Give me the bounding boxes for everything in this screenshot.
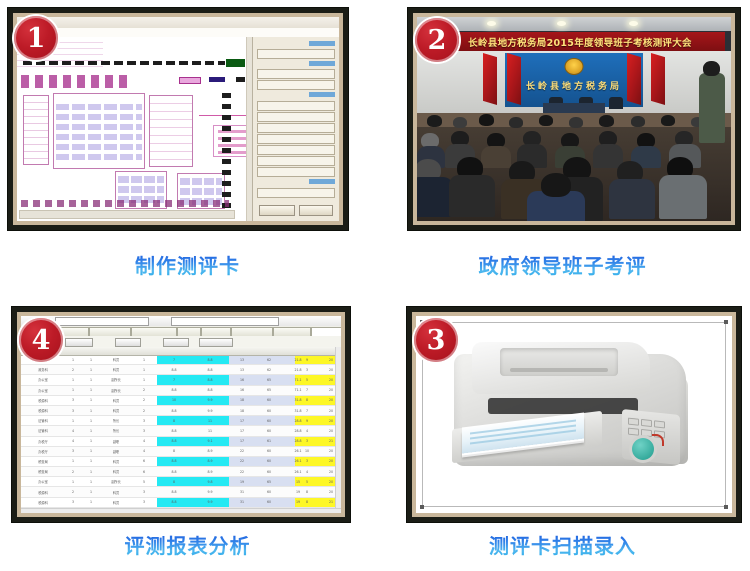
table-cell: 2 <box>133 396 155 405</box>
refresh-button[interactable] <box>115 338 141 347</box>
panel-3-caption: 测评卡扫描录入 <box>375 530 750 559</box>
table-cell: 60 <box>257 487 281 496</box>
table-cell: 9.9 <box>193 406 227 415</box>
table-cell: 6 <box>133 467 155 476</box>
selection-handle-tr[interactable] <box>724 320 728 324</box>
table-cell: 8.9 <box>193 467 227 476</box>
ceiling <box>417 17 731 31</box>
table-cell: 60 <box>257 447 281 456</box>
table-cell: 11 <box>193 416 227 425</box>
table-cell: 2 <box>133 406 155 415</box>
panel-4: 税务所11科员178.8136221.892025政务科21科员18.88.81… <box>0 290 375 571</box>
grid-hscrollbar[interactable] <box>21 508 341 513</box>
table-cell: 8.8 <box>157 386 191 395</box>
table-cell: 8 <box>157 477 191 486</box>
table-cell: 税源科 <box>23 406 63 415</box>
scanner-key-5[interactable] <box>641 429 652 437</box>
scanner-key-3[interactable] <box>654 420 665 428</box>
table-cell: 4 <box>295 467 319 476</box>
table-cell: 所长 <box>101 426 131 435</box>
step-badge-4: 4 <box>19 318 63 362</box>
table-cell: 11 <box>193 426 227 435</box>
table-cell: 科员 <box>101 365 131 374</box>
conference-banner: 长岭县地方税务局2015年度领导班子考核测评大会 <box>435 32 725 51</box>
legend-chip-b <box>209 77 225 82</box>
sidebar-field-11[interactable] <box>257 188 335 198</box>
table-cell: 8 <box>295 396 319 405</box>
table-cell: 8.8 <box>157 487 191 496</box>
table-cell: 18 <box>229 406 255 415</box>
sidebar-field-5[interactable] <box>257 112 335 122</box>
scanner-key-4[interactable] <box>628 428 639 436</box>
form-designer-screenshot <box>17 17 339 221</box>
table-cell: 60 <box>257 457 281 466</box>
sidebar-field-8[interactable] <box>257 145 335 155</box>
table-row[interactable]: 税源科31科员38.89.931601982146 <box>21 498 341 508</box>
table-cell: 1 <box>83 365 99 374</box>
table-cell: 13 <box>229 355 255 364</box>
table-cell: 60 <box>257 416 281 425</box>
table-cell: 1 <box>83 355 99 364</box>
table-cell: 60 <box>257 426 281 435</box>
table-cell: 65 <box>257 375 281 384</box>
table-cell: 稽查局 <box>23 467 63 476</box>
ceiling-light-2 <box>557 21 566 26</box>
sidebar-section-1 <box>309 41 335 46</box>
table-cell: 1 <box>83 487 99 496</box>
table-cell: 3 <box>65 447 81 456</box>
tab-statistics[interactable] <box>201 327 231 336</box>
table-cell: 16 <box>229 375 255 384</box>
table-cell: 9.9 <box>193 498 227 507</box>
table-cell: 8.8 <box>193 375 227 384</box>
table-cell: 办公室 <box>23 477 63 486</box>
table-row[interactable]: 税务所11科员178.8136221.892025 <box>21 355 341 365</box>
table-cell: 5 <box>295 477 319 486</box>
table-cell: 9 <box>295 416 319 425</box>
panel-2-image: 长岭县地方税务局2015年度领导班子考核测评大会 长岭县地方税务局 <box>417 17 731 221</box>
scanner-tray-slot <box>510 368 608 372</box>
table-cell: 科员 <box>101 467 131 476</box>
table-cell: 10 <box>157 396 191 405</box>
table-cell: 1 <box>65 477 81 486</box>
table-cell: 18 <box>229 396 255 405</box>
table-cell: 60 <box>257 498 281 507</box>
spreadsheet-screenshot: 税务所11科员178.8136221.892025政务科21科员18.88.81… <box>21 316 341 513</box>
table-cell: 19 <box>229 477 255 486</box>
scanner-control-panel[interactable] <box>622 409 680 465</box>
form-title-text <box>21 75 133 88</box>
scanner-key-2[interactable] <box>641 419 652 427</box>
spreadsheet-grid[interactable]: 税务所11科员178.8136221.892025政务科21科员18.88.81… <box>21 355 341 509</box>
panel-1-image <box>17 17 339 221</box>
table-cell: 60 <box>257 396 281 405</box>
table-cell: 1 <box>133 375 155 384</box>
table-cell: 3 <box>295 437 319 446</box>
table-cell: 1 <box>133 365 155 374</box>
table-cell: 2 <box>133 386 155 395</box>
table-cell: 办公室 <box>23 375 63 384</box>
table-cell: 9.1 <box>193 437 227 446</box>
table-cell: 16 <box>229 386 255 395</box>
table-row[interactable]: 征管科41所长38.811176028.842030 <box>21 426 341 436</box>
stage-org-name: 长岭县地方税务局 <box>526 79 622 92</box>
table-cell: 8.8 <box>157 498 191 507</box>
table-cell: 8.8 <box>157 426 191 435</box>
unit-select[interactable] <box>171 317 279 326</box>
panel-4-image: 税务所11科员178.8136221.892025政务科21科员18.88.81… <box>21 316 341 513</box>
table-cell: 4 <box>65 437 81 446</box>
table-row[interactable]: 征管科11所长3811176028.892029 <box>21 416 341 426</box>
table-cell: 3 <box>65 406 81 415</box>
form-table-left <box>23 95 49 165</box>
table-cell: 3 <box>295 457 319 466</box>
table-cell: 科员 <box>101 498 131 507</box>
table-cell: 办公室 <box>23 386 63 395</box>
panel-1-caption: 制作测评卡 <box>0 250 375 279</box>
table-cell: 税源科 <box>23 487 63 496</box>
panel-3: 3 测评卡扫描录入 <box>375 290 750 571</box>
sidebar-field-2[interactable] <box>257 69 335 79</box>
table-cell: 22 <box>229 457 255 466</box>
table-cell: 科员 <box>101 457 131 466</box>
panel-3-image <box>416 316 732 513</box>
table-cell: 1 <box>83 477 99 486</box>
table-cell: 2 <box>65 365 81 374</box>
table-cell: 1 <box>83 386 99 395</box>
corner-block <box>226 59 245 67</box>
scanner-paper-path <box>488 398 638 414</box>
conference-photo: 长岭县地方税务局2015年度领导班子考核测评大会 长岭县地方税务局 <box>417 17 731 221</box>
table-cell: 31 <box>229 487 255 496</box>
stage-chair-3 <box>609 97 623 109</box>
table-cell: 1 <box>83 467 99 476</box>
table-cell: 8.8 <box>193 386 227 395</box>
table-cell: 征管科 <box>23 416 63 425</box>
table-cell: 60 <box>257 406 281 415</box>
table-cell: 3 <box>133 426 155 435</box>
table-cell: 60 <box>257 467 281 476</box>
timing-marks-top <box>23 61 225 65</box>
sidebar-field-7[interactable] <box>257 134 335 144</box>
table-cell: 3 <box>133 487 155 496</box>
table-row[interactable]: 办税厅41副职48.89.1176128.832119 <box>21 437 341 447</box>
properties-sidebar <box>252 37 339 221</box>
table-cell: 7 <box>295 406 319 415</box>
table-cell: 61 <box>257 437 281 446</box>
table-cell: 7 <box>295 386 319 395</box>
step-badge-1: 1 <box>14 16 58 60</box>
table-cell: 4 <box>133 437 155 446</box>
print-button[interactable] <box>199 338 233 347</box>
sidebar-section-4 <box>309 179 335 184</box>
report-select[interactable] <box>55 317 149 326</box>
step-badge-2: 2 <box>415 18 459 62</box>
sidebar-field-9[interactable] <box>257 156 335 166</box>
audience-area <box>417 113 731 221</box>
table-cell: 8 <box>157 416 191 425</box>
table-cell: 8.8 <box>157 467 191 476</box>
table-cell: 1 <box>133 355 155 364</box>
table-cell: 5 <box>295 375 319 384</box>
scanner-key-1[interactable] <box>628 418 639 426</box>
table-cell: 9.9 <box>193 487 227 496</box>
step-badge-3: 3 <box>414 318 458 362</box>
selection-handle-bl[interactable] <box>420 505 424 509</box>
flag-left-2 <box>507 53 521 105</box>
table-cell: 6 <box>133 457 155 466</box>
sidebar-field-1[interactable] <box>257 49 335 59</box>
tab-score-table[interactable] <box>311 327 341 336</box>
table-cell: 1 <box>65 355 81 364</box>
table-cell: 8.8 <box>157 437 191 446</box>
table-cell: 4 <box>133 447 155 456</box>
table-cell: 10 <box>295 447 319 456</box>
table-row[interactable]: 办公室11副所长178.8166571.152021 <box>21 375 341 385</box>
table-cell: 1 <box>65 386 81 395</box>
table-row[interactable]: 办公室11副所长28.88.8166571.172076 <box>21 386 341 396</box>
table-cell: 1 <box>83 375 99 384</box>
table-cell: 62 <box>257 365 281 374</box>
sidebar-field-3[interactable] <box>257 80 335 90</box>
table-cell: 科员 <box>101 355 131 364</box>
table-cell: 9.8 <box>193 477 227 486</box>
table-cell: 62 <box>257 355 281 364</box>
table-cell: 8.8 <box>157 457 191 466</box>
table-cell: 8.8 <box>157 406 191 415</box>
table-cell: 3 <box>65 498 81 507</box>
canvas-hscrollbar[interactable] <box>19 210 235 219</box>
table-cell: 稽查局 <box>23 457 63 466</box>
table-cell: 2 <box>65 467 81 476</box>
panel-2: 长岭县地方税务局2015年度领导班子考核测评大会 长岭县地方税务局 <box>375 0 750 290</box>
grid-vscrollbar[interactable] <box>335 347 341 509</box>
table-cell: 1 <box>83 426 99 435</box>
table-cell: 3 <box>133 498 155 507</box>
table-cell: 13 <box>229 365 255 374</box>
table-cell: 17 <box>229 437 255 446</box>
sidebar-section-2 <box>309 61 335 66</box>
timing-marks-right <box>222 93 231 209</box>
table-cell: 8 <box>157 447 191 456</box>
legend-chip-a <box>179 77 201 84</box>
table-cell: 8.8 <box>193 355 227 364</box>
table-cell: 税源科 <box>23 396 63 405</box>
table-cell: 17 <box>229 426 255 435</box>
panel-1: 1 制作测评卡 <box>0 0 375 290</box>
table-cell: 1 <box>65 457 81 466</box>
table-cell: 22 <box>229 447 255 456</box>
table-cell: 8.8 <box>193 365 227 374</box>
table-cell: 31 <box>229 498 255 507</box>
sidebar-field-6[interactable] <box>257 123 335 133</box>
table-cell: 1 <box>83 406 99 415</box>
table-cell: 8.8 <box>157 365 191 374</box>
table-row[interactable]: 稽查局21科员68.88.9226026.142029 <box>21 467 341 477</box>
table-cell: 9.9 <box>193 396 227 405</box>
table-cell: 65 <box>257 477 281 486</box>
table-cell: 办税厅 <box>23 447 63 456</box>
table-cell: 8 <box>295 498 319 507</box>
flag-left-1 <box>483 53 497 105</box>
tab-item-summary[interactable] <box>131 327 177 336</box>
panel-1-frame <box>8 8 348 230</box>
table-cell: 科员 <box>101 406 131 415</box>
legend-chip-c <box>236 77 245 82</box>
table-row[interactable]: 税源科31科员2109.9186031.882039 <box>21 396 341 406</box>
table-cell: 17 <box>229 416 255 425</box>
table-cell: 1 <box>83 437 99 446</box>
table-row[interactable]: 税源科21科员38.89.931601982046 <box>21 487 341 497</box>
table-cell: 1 <box>83 457 99 466</box>
table-cell: 科员 <box>101 396 131 405</box>
tab-category-detail[interactable] <box>231 327 273 336</box>
table-cell: 8.9 <box>193 457 227 466</box>
table-cell: 征管科 <box>23 426 63 435</box>
table-cell: 1 <box>83 396 99 405</box>
table-cell: 副职 <box>101 437 131 446</box>
table-cell: 副职 <box>101 447 131 456</box>
table-row[interactable]: 办税厅31副职488.9226026.1102019 <box>21 447 341 457</box>
table-cell: 9 <box>295 355 319 364</box>
save-template-button[interactable] <box>259 205 295 216</box>
table-row[interactable]: 税源科31科员28.89.9186031.872039 <box>21 406 341 416</box>
table-cell: 2 <box>65 487 81 496</box>
scanner-start-dial[interactable] <box>632 438 654 460</box>
query-button[interactable] <box>65 338 93 347</box>
table-cell: 8 <box>295 487 319 496</box>
sidebar-field-4[interactable] <box>257 101 335 111</box>
sidebar-section-3 <box>309 92 335 97</box>
design-canvas[interactable] <box>17 37 253 221</box>
table-cell: 22 <box>229 467 255 476</box>
selection-handle-br[interactable] <box>724 505 728 509</box>
table-row[interactable]: 稽查局11科员68.88.9226026.132048 <box>21 457 341 467</box>
table-cell: 3 <box>295 365 319 374</box>
table-cell: 副所长 <box>101 386 131 395</box>
export-button[interactable] <box>163 338 189 347</box>
tab-opinion-summary[interactable] <box>273 327 311 336</box>
table-cell: 政务科 <box>23 365 63 374</box>
table-cell: 4 <box>295 426 319 435</box>
table-row[interactable]: 办公室11副所长589.819651552025 <box>21 477 341 487</box>
flag-right-1 <box>651 53 665 105</box>
table-cell: 5 <box>133 477 155 486</box>
table-cell: 7 <box>157 375 191 384</box>
panels-grid: 1 制作测评卡 长岭县地方税务局2015年度领导班子考核测评大会 长岭县地方税务… <box>0 0 750 571</box>
table-cell: 3 <box>65 396 81 405</box>
ceiling-light-1 <box>487 21 496 26</box>
table-cell: 所长 <box>101 416 131 425</box>
panel-2-caption: 政府领导班子考评 <box>375 250 750 279</box>
table-cell: 1 <box>83 416 99 425</box>
table-cell: 1 <box>65 416 81 425</box>
tab-result-summary[interactable] <box>89 327 131 336</box>
cancel-button[interactable] <box>299 205 333 216</box>
table-cell: 副所长 <box>101 375 131 384</box>
tab-ranking[interactable] <box>177 327 201 336</box>
scanner-photo <box>416 316 732 513</box>
table-cell: 1 <box>83 498 99 507</box>
table-cell: 3 <box>133 416 155 425</box>
table-cell: 办税厅 <box>23 437 63 446</box>
table-cell: 8.9 <box>193 447 227 456</box>
table-cell: 科员 <box>101 487 131 496</box>
form-footer-text <box>21 200 229 207</box>
national-emblem-icon <box>566 59 583 74</box>
table-cell: 税源科 <box>23 498 63 507</box>
table-cell: 4 <box>65 426 81 435</box>
table-cell: 1 <box>65 375 81 384</box>
panel-4-caption: 评测报表分析 <box>0 530 375 559</box>
table-cell: 7 <box>157 355 191 364</box>
ceiling-light-3 <box>629 21 638 26</box>
table-cell: 副所长 <box>101 477 131 486</box>
table-cell: 65 <box>257 386 281 395</box>
table-row[interactable]: 政务科21科员18.88.8136221.832032 <box>21 365 341 375</box>
table-cell: 1 <box>83 447 99 456</box>
form-table-right <box>149 95 193 167</box>
sidebar-field-10[interactable] <box>257 167 335 177</box>
form-table-bubbles-main <box>53 93 145 169</box>
flag-right-2 <box>627 53 641 105</box>
